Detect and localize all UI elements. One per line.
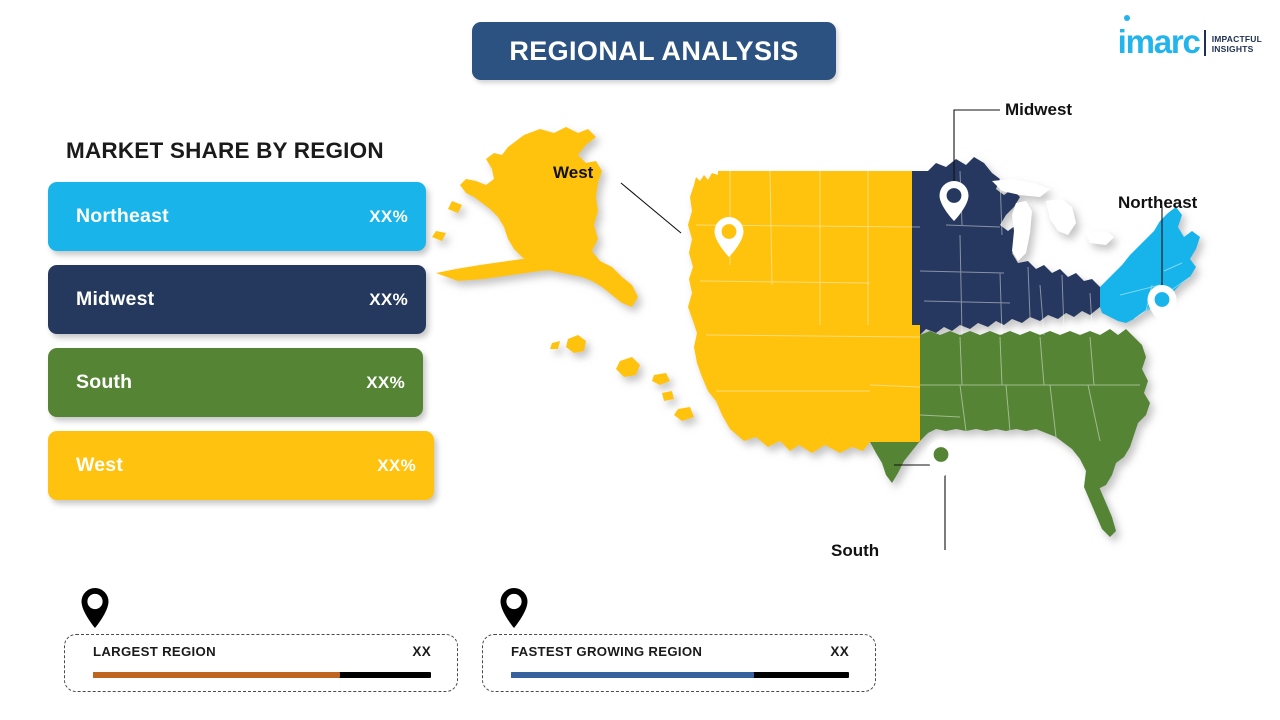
map-callout-label-northeast: Northeast — [1118, 193, 1197, 213]
page-title-banner: REGIONAL ANALYSIS — [472, 22, 836, 80]
share-bar-south[interactable]: South XX% — [48, 348, 423, 417]
map-pin-northeast[interactable] — [1148, 285, 1177, 325]
logo-dot-icon — [1124, 15, 1130, 21]
largest-region-card[interactable]: LARGEST REGION XX — [64, 634, 458, 692]
fastest-growing-region-card[interactable]: FASTEST GROWING REGION XX — [482, 634, 876, 692]
share-bar-label: Northeast — [76, 205, 169, 228]
share-bar-midwest[interactable]: Midwest XX% — [48, 265, 426, 334]
fastest-growing-region-value: XX — [830, 644, 849, 659]
logo-tagline: IMPACTFUL INSIGHTS — [1212, 34, 1262, 55]
market-share-bar-list: Northeast XX% Midwest XX% South XX% West… — [48, 182, 440, 514]
map-lake-ontario — [1086, 231, 1114, 245]
largest-region-pin-icon — [78, 587, 112, 629]
share-bar-northeast[interactable]: Northeast XX% — [48, 182, 426, 251]
us-regional-map: West Midwest Northeast South — [400, 85, 1280, 585]
logo-wordmark: imarc — [1118, 25, 1200, 58]
share-bar-label: Midwest — [76, 288, 154, 311]
fastest-growing-region-label: FASTEST GROWING REGION — [511, 644, 702, 659]
map-callout-label-west: West — [553, 163, 593, 183]
fastest-growing-region-pin-icon — [497, 587, 531, 629]
map-region-hawaii[interactable] — [550, 335, 694, 421]
map-lake-michigan — [1012, 201, 1032, 261]
logo-tagline-line2: INSIGHTS — [1212, 44, 1262, 55]
logo-brand-text: imarc — [1118, 23, 1200, 60]
largest-region-label: LARGEST REGION — [93, 644, 216, 659]
map-region-shapes — [432, 127, 1200, 537]
map-lake-huron-erie — [1046, 199, 1076, 235]
fastest-growing-region-progress-track — [511, 672, 849, 678]
imarc-logo: imarc IMPACTFUL INSIGHTS — [1118, 14, 1262, 58]
fastest-growing-region-progress-fill — [511, 672, 754, 678]
callout-line-south — [894, 465, 945, 550]
map-pin-south[interactable] — [927, 440, 956, 480]
share-bar-label: South — [76, 371, 132, 394]
map-region-west[interactable] — [688, 171, 920, 453]
callout-line-west — [621, 183, 681, 233]
share-bar-label: West — [76, 454, 123, 477]
map-region-alaska-aleutians — [436, 257, 606, 281]
largest-region-value: XX — [412, 644, 431, 659]
logo-divider — [1204, 30, 1206, 56]
regional-analysis-infographic: REGIONAL ANALYSIS imarc IMPACTFUL INSIGH… — [0, 0, 1280, 720]
largest-region-progress-fill — [93, 672, 340, 678]
share-bar-west[interactable]: West XX% — [48, 431, 434, 500]
us-map-svg — [400, 85, 1280, 585]
page-title: REGIONAL ANALYSIS — [509, 36, 798, 67]
market-share-heading: MARKET SHARE BY REGION — [66, 138, 384, 164]
map-callout-label-midwest: Midwest — [1005, 100, 1072, 120]
logo-tagline-line1: IMPACTFUL — [1212, 34, 1262, 45]
map-callout-label-south: South — [831, 541, 879, 561]
largest-region-progress-track — [93, 672, 431, 678]
